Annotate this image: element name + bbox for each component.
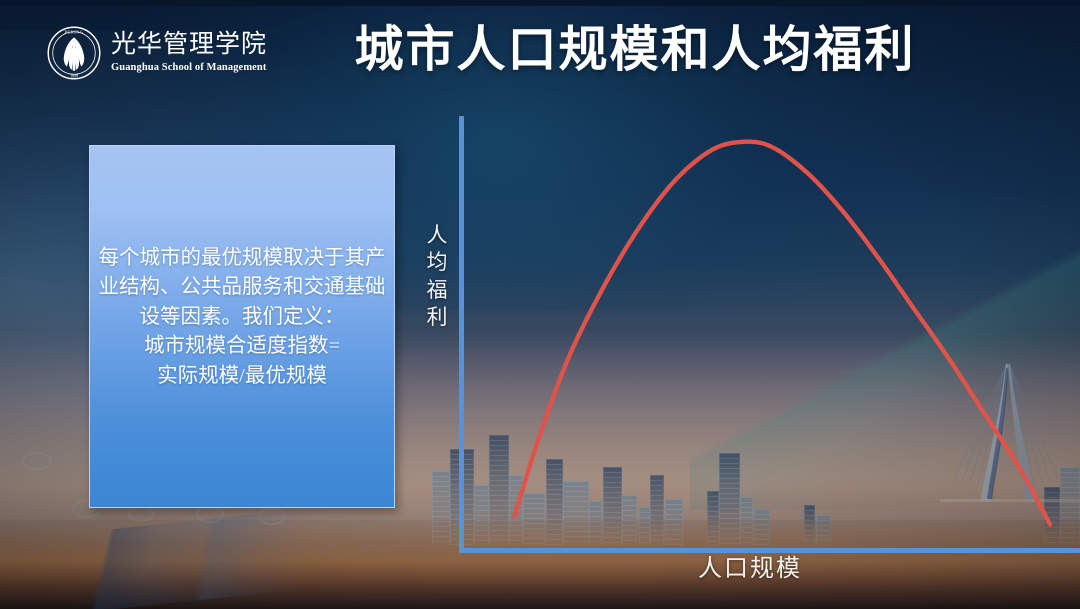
chart-y-axis	[459, 116, 464, 553]
chart-x-axis	[459, 548, 1080, 553]
welfare-population-chart: 人 均 福 利 人口规模	[0, 0, 1080, 609]
y-axis-char: 均	[424, 249, 450, 276]
y-axis-char: 人	[424, 222, 450, 249]
welfare-curve-path	[515, 142, 1051, 525]
chart-y-axis-label: 人 均 福 利	[424, 222, 450, 331]
slide-canvas: PEKING 1898 光华管理学院 Guanghua School of Ma…	[0, 0, 1080, 609]
welfare-curve-svg	[0, 0, 1080, 609]
chart-x-axis-label: 人口规模	[698, 555, 802, 584]
y-axis-char: 福	[424, 277, 450, 304]
y-axis-char: 利	[424, 304, 450, 331]
